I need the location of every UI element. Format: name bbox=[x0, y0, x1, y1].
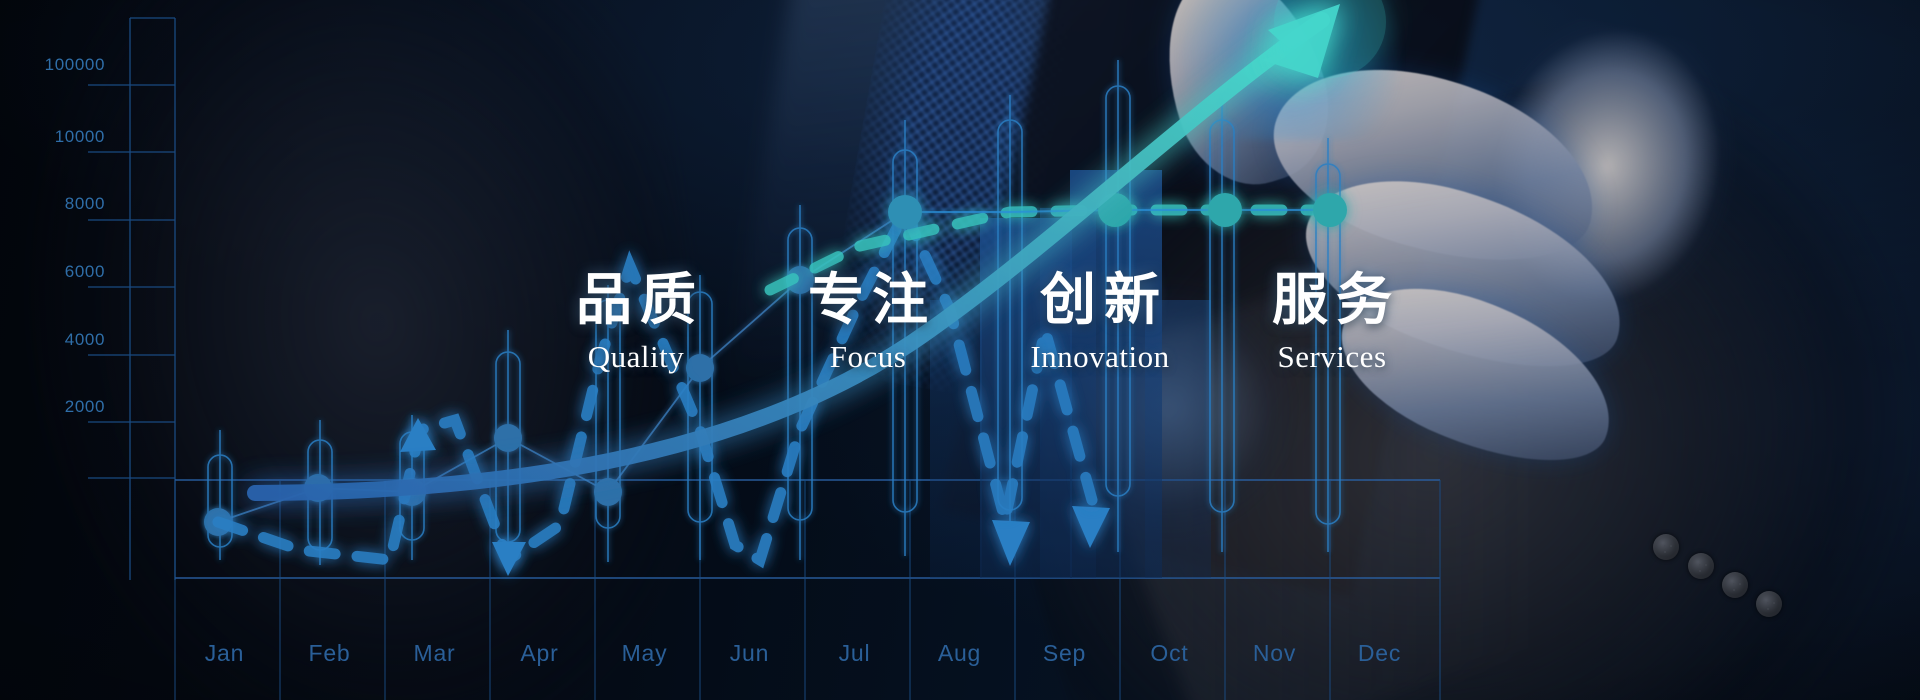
bar-series bbox=[930, 170, 1211, 578]
x-tick-label-nov: Nov bbox=[1222, 640, 1327, 667]
slogan-group: 品质 Quality 专注 Focus 创新 Innovation 服务 Ser… bbox=[520, 272, 1448, 374]
slogan-quality: 品质 Quality bbox=[520, 272, 752, 374]
slogan-en-innovation: Innovation bbox=[984, 341, 1216, 374]
y-tick-label: 6000 bbox=[0, 262, 105, 282]
x-tick-label-oct: Oct bbox=[1117, 640, 1222, 667]
y-tick-label: 4000 bbox=[0, 330, 105, 350]
x-tick-label-sep: Sep bbox=[1012, 640, 1117, 667]
slogan-focus: 专注 Focus bbox=[752, 272, 984, 374]
y-tick-label: 2000 bbox=[0, 397, 105, 417]
banner-stage: 100000 10000 8000 6000 4000 2000 Jan Feb… bbox=[0, 0, 1920, 700]
x-tick-label-jan: Jan bbox=[172, 640, 277, 667]
x-tick-label-may: May bbox=[592, 640, 697, 667]
x-tick-label-mar: Mar bbox=[382, 640, 487, 667]
slogan-en-quality: Quality bbox=[520, 341, 752, 374]
slogan-innovation: 创新 Innovation bbox=[984, 272, 1216, 374]
slogan-cn-focus: 专注 bbox=[752, 272, 984, 329]
x-tick-label-apr: Apr bbox=[487, 640, 592, 667]
dashed-zigzag-series bbox=[218, 212, 905, 560]
x-tick-label-jul: Jul bbox=[802, 640, 907, 667]
slogan-en-services: Services bbox=[1216, 341, 1448, 374]
slogan-cn-quality: 品质 bbox=[520, 272, 752, 329]
x-tick-label-jun: Jun bbox=[697, 640, 802, 667]
slogan-en-focus: Focus bbox=[752, 341, 984, 374]
y-tick-label: 8000 bbox=[0, 194, 105, 214]
slogan-services: 服务 Services bbox=[1216, 272, 1448, 374]
x-tick-label-feb: Feb bbox=[277, 640, 382, 667]
y-axis-grid bbox=[88, 18, 175, 580]
slogan-cn-services: 服务 bbox=[1216, 272, 1448, 329]
y-tick-label: 10000 bbox=[0, 127, 105, 147]
x-grid bbox=[175, 480, 1440, 700]
x-tick-label-aug: Aug bbox=[907, 640, 1012, 667]
slogan-cn-innovation: 创新 bbox=[984, 272, 1216, 329]
x-tick-label-dec: Dec bbox=[1327, 640, 1432, 667]
y-tick-label: 100000 bbox=[0, 55, 105, 75]
